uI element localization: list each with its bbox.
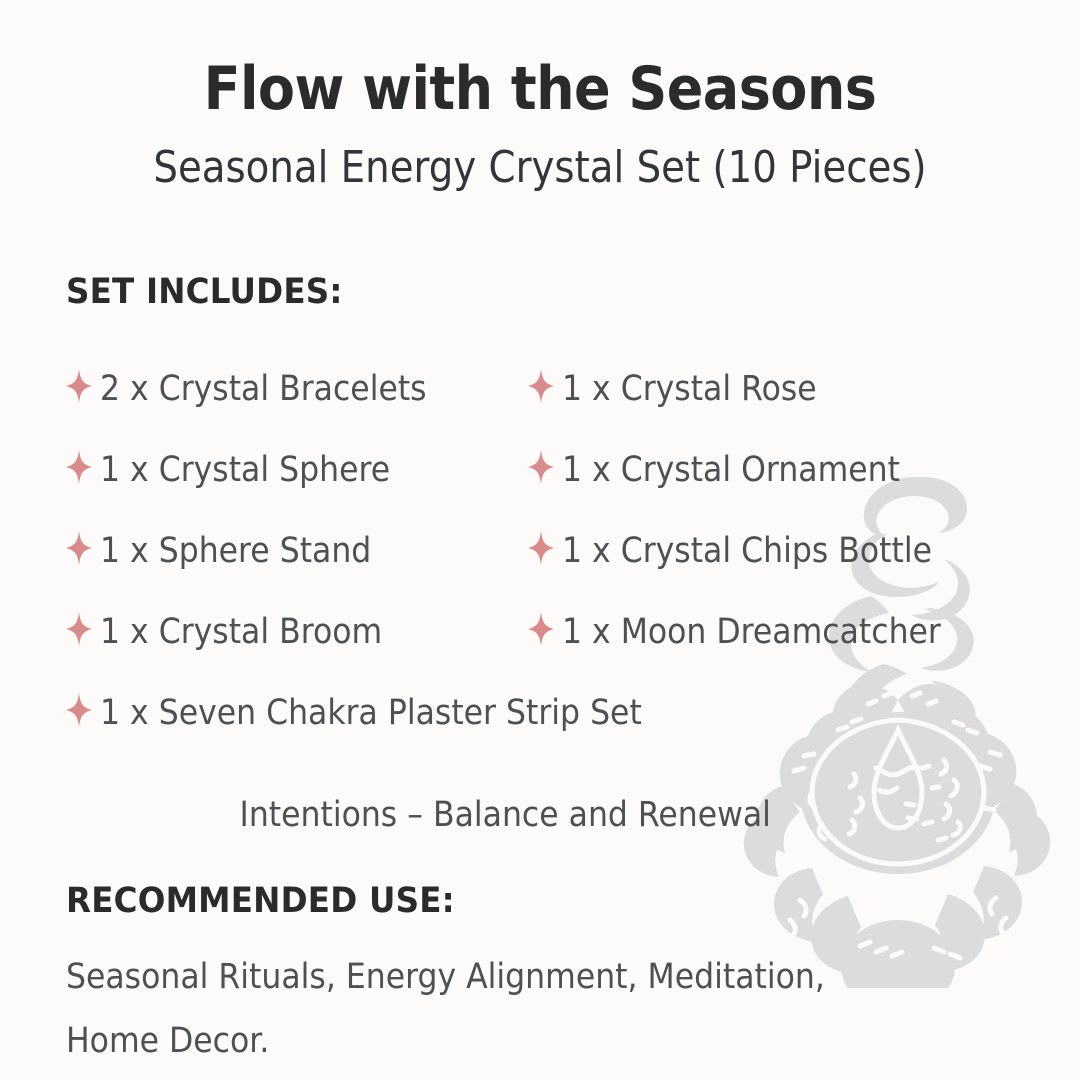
- set-includes-heading: SET INCLUDES:: [66, 272, 343, 312]
- sparkle-icon: [66, 369, 92, 403]
- list-item: 1 x Seven Chakra Plaster Strip Set: [66, 690, 702, 733]
- list-item-label: 2 x Crystal Bracelets: [100, 369, 427, 409]
- list-item: 1 x Crystal Chips Bottle: [528, 528, 973, 571]
- page-subtitle: Seasonal Energy Crystal Set (10 Pieces): [65, 122, 1015, 192]
- sparkle-icon: [66, 612, 92, 646]
- product-info-card: Flow with the Seasons Seasonal Energy Cr…: [0, 0, 1080, 1080]
- recommended-use-line-2: Home Decor.: [66, 1009, 903, 1073]
- sparkle-icon: [66, 693, 92, 727]
- recommended-use-body: Seasonal Rituals, Energy Alignment, Medi…: [66, 945, 996, 1073]
- sparkle-icon: [66, 531, 92, 565]
- intentions-text: Intentions – Balance and Renewal: [239, 795, 770, 835]
- sparkle-icon: [528, 450, 554, 484]
- list-item-label: 1 x Seven Chakra Plaster Strip Set: [100, 693, 642, 733]
- list-item: 1 x Sphere Stand: [66, 528, 401, 571]
- list-item: 1 x Crystal Ornament: [528, 447, 938, 490]
- card-header: Flow with the Seasons Seasonal Energy Cr…: [0, 0, 1080, 192]
- list-item-label: 1 x Moon Dreamcatcher: [562, 612, 941, 652]
- page-title: Flow with the Seasons: [54, 0, 1026, 122]
- list-item: 1 x Crystal Sphere: [66, 447, 422, 490]
- list-item-label: 1 x Crystal Chips Bottle: [562, 531, 932, 571]
- set-includes-list: 2 x Crystal Bracelets 1 x Crystal Sphere…: [0, 366, 1080, 766]
- intentions-line: Intentions – Balance and Renewal: [0, 795, 1010, 835]
- list-item-label: 1 x Crystal Sphere: [100, 450, 390, 490]
- sparkle-icon: [528, 612, 554, 646]
- list-item-label: 1 x Crystal Ornament: [562, 450, 900, 490]
- sparkle-icon: [66, 450, 92, 484]
- list-item-label: 1 x Crystal Rose: [562, 369, 817, 409]
- sparkle-icon: [528, 531, 554, 565]
- list-item: 2 x Crystal Bracelets: [66, 366, 463, 409]
- sparkle-icon: [528, 369, 554, 403]
- list-item: 1 x Crystal Broom: [66, 609, 414, 652]
- list-item: 1 x Crystal Rose: [528, 366, 845, 409]
- recommended-use-heading: RECOMMENDED USE:: [66, 881, 455, 921]
- recommended-use-line-1: Seasonal Rituals, Energy Alignment, Medi…: [66, 945, 903, 1009]
- list-item-label: 1 x Crystal Broom: [100, 612, 382, 652]
- list-item: 1 x Moon Dreamcatcher: [528, 609, 983, 652]
- list-item-label: 1 x Sphere Stand: [100, 531, 371, 571]
